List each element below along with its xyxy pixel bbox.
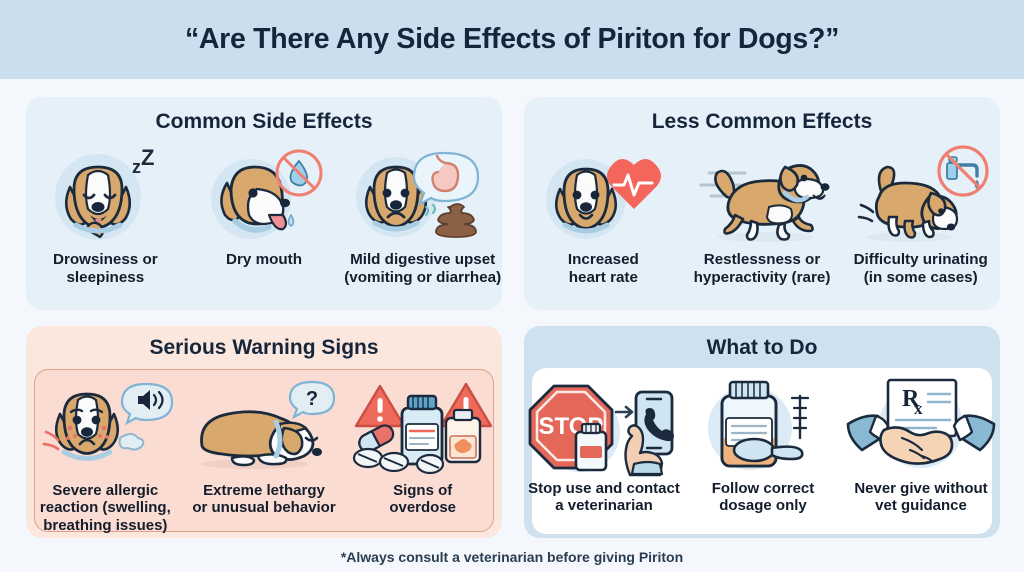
- medicine-bottle-spoon-icon: [688, 372, 838, 476]
- item-never-give-without-vet: R x: [842, 372, 1000, 515]
- page-title: “Are There Any Side Effects of Piriton f…: [185, 23, 839, 56]
- item-restlessness: Restlessness or hyperactivity (rare): [683, 143, 842, 286]
- svg-text:Z: Z: [141, 145, 154, 170]
- dog-no-faucet-icon: [847, 143, 995, 247]
- item-follow-correct-dosage: Follow correct dosage only: [684, 372, 842, 515]
- dog-heartbeat-icon: [538, 143, 668, 247]
- item-row: z Z Drowsiness or sleepiness: [26, 143, 502, 286]
- item-caption: Extreme lethargy or unusual behavior: [192, 482, 335, 517]
- header-band: “Are There Any Side Effects of Piriton f…: [0, 0, 1024, 79]
- allergic-dog-icon: [34, 374, 176, 478]
- item-caption: Drowsiness or sleepiness: [53, 251, 158, 286]
- panel-title: What to Do: [524, 326, 1000, 360]
- item-caption: Difficulty urinating (in some cases): [854, 251, 988, 286]
- item-signs-of-overdose: Signs of overdose: [343, 374, 502, 517]
- running-dog-icon: [687, 143, 837, 247]
- item-caption: Restlessness or hyperactivity (rare): [694, 251, 831, 286]
- item-caption: Mild digestive upset (vomiting or diarrh…: [344, 251, 501, 286]
- sleeping-dog-icon: z Z: [46, 143, 164, 247]
- item-caption: Increased heart rate: [568, 251, 639, 286]
- item-caption: Dry mouth: [226, 251, 302, 269]
- item-drowsiness: z Z Drowsiness or sleepiness: [26, 143, 185, 286]
- panel-title: Common Side Effects: [26, 97, 502, 134]
- item-row: Increased heart rate: [524, 143, 1000, 286]
- item-severe-allergic-reaction: Severe allergic reaction (swelling, brea…: [26, 374, 185, 534]
- item-extreme-lethargy: ? Extreme lethargy or unusual behavior: [185, 374, 344, 517]
- panel-title: Less Common Effects: [524, 97, 1000, 134]
- item-caption: Follow correct dosage only: [712, 480, 815, 515]
- item-increased-heart-rate: Increased heart rate: [524, 143, 683, 286]
- item-caption: Severe allergic reaction (swelling, brea…: [40, 482, 171, 534]
- item-dry-mouth: Dry mouth: [185, 143, 344, 269]
- panel-title: Serious Warning Signs: [26, 326, 502, 360]
- svg-text:z: z: [132, 157, 141, 177]
- footer-note: *Always consult a veterinarian before gi…: [0, 549, 1024, 565]
- panel-serious-warning-signs: Serious Warning Signs: [26, 326, 502, 538]
- dog-stomach-upset-icon: [348, 143, 498, 247]
- item-caption: Signs of overdose: [389, 482, 456, 517]
- item-caption: Never give without vet guidance: [854, 480, 987, 515]
- item-digestive-upset: Mild digestive upset (vomiting or diarrh…: [343, 143, 502, 286]
- rx-handshake-icon: R x: [844, 372, 998, 476]
- svg-text:?: ?: [306, 388, 318, 410]
- panel-common-side-effects: Common Side Effects: [26, 97, 502, 310]
- item-stop-and-contact-vet: STOP: [524, 372, 684, 515]
- panel-less-common-effects: Less Common Effects: [524, 97, 1000, 310]
- item-row: STOP: [524, 372, 1000, 515]
- panting-dog-no-water-icon: [201, 143, 327, 247]
- svg-text:x: x: [914, 399, 923, 418]
- item-row: Severe allergic reaction (swelling, brea…: [26, 374, 502, 534]
- pill-overdose-warning-icon: [350, 374, 496, 478]
- item-difficulty-urinating: Difficulty urinating (in some cases): [841, 143, 1000, 286]
- item-caption: Stop use and contact a veterinarian: [528, 480, 680, 515]
- stop-sign-phone-icon: STOP: [524, 372, 684, 476]
- panel-what-to-do: What to Do STOP: [524, 326, 1000, 538]
- lethargic-dog-icon: ?: [188, 374, 340, 478]
